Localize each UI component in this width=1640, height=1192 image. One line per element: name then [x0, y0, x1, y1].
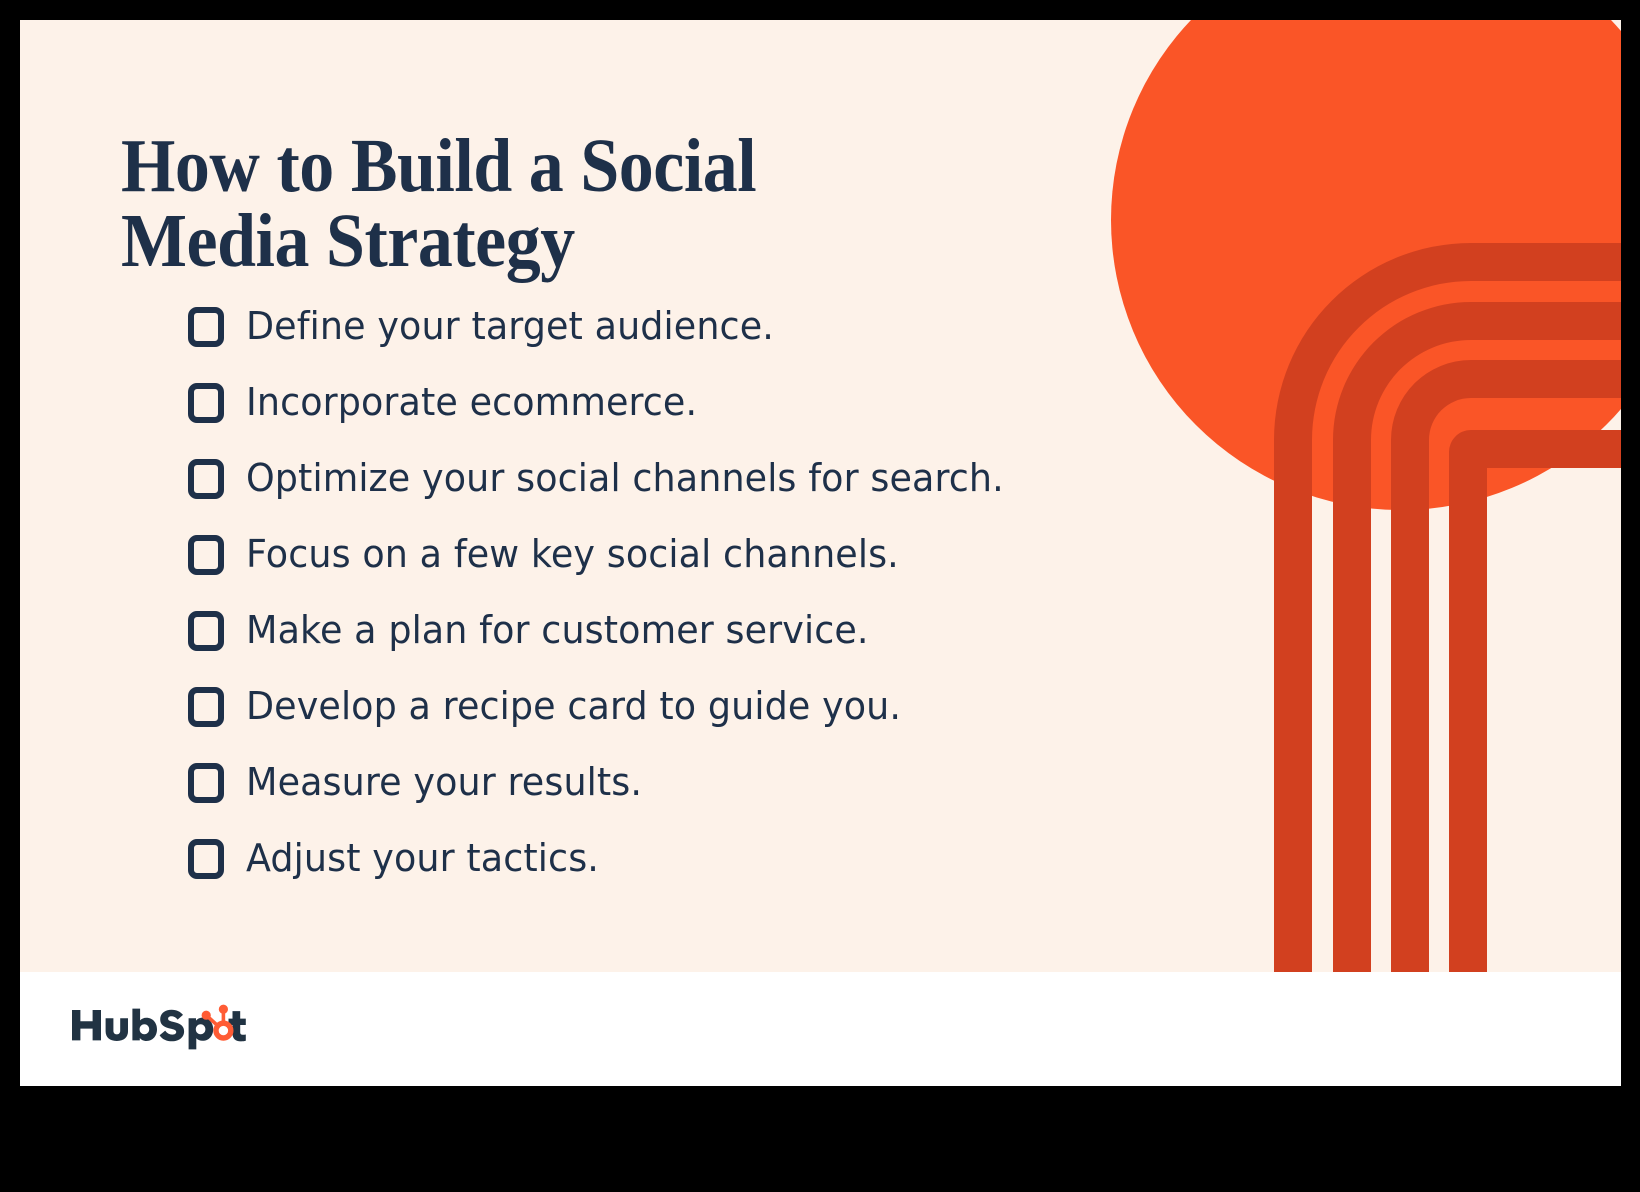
checklist-item-label: Optimize your social channels for search…	[246, 459, 1004, 497]
hubspot-logo	[70, 994, 254, 1050]
footer-bar	[20, 972, 1621, 1086]
checklist-item-label: Adjust your tactics.	[246, 839, 599, 877]
checklist-item-label: Develop a recipe card to guide you.	[246, 687, 901, 725]
checklist-item[interactable]: Focus on a few key social channels.	[188, 516, 1248, 592]
hubspot-logo-icon	[70, 994, 254, 1050]
arc-leg-4	[1449, 430, 1621, 972]
checklist-item-label: Focus on a few key social channels.	[246, 535, 899, 573]
checklist-item-label: Incorporate ecommerce.	[246, 383, 697, 421]
checklist-item[interactable]: Optimize your social channels for search…	[188, 440, 1248, 516]
checklist-item[interactable]: Make a plan for customer service.	[188, 592, 1248, 668]
arc-leg-2	[1333, 302, 1621, 972]
arc-leg-3	[1391, 360, 1621, 972]
checklist-item[interactable]: Incorporate ecommerce.	[188, 364, 1248, 440]
checkbox-icon[interactable]	[188, 383, 224, 423]
outer-frame: How to Build a Social Media Strategy Def…	[0, 0, 1640, 1192]
page-title-line-1: How to Build a Social	[121, 129, 894, 204]
checkbox-icon[interactable]	[188, 459, 224, 499]
graphic-card: How to Build a Social Media Strategy Def…	[20, 20, 1621, 1086]
page-title: How to Build a Social Media Strategy	[121, 129, 894, 279]
checklist-item-label: Measure your results.	[246, 763, 642, 801]
card-body: How to Build a Social Media Strategy Def…	[20, 20, 1621, 972]
checkbox-icon[interactable]	[188, 307, 224, 347]
checkbox-icon[interactable]	[188, 687, 224, 727]
checklist-item-label: Define your target audience.	[246, 307, 774, 345]
checkbox-icon[interactable]	[188, 763, 224, 803]
checklist: Define your target audience.Incorporate …	[188, 288, 1248, 896]
arc-leg-1	[1274, 243, 1621, 972]
page-title-line-2: Media Strategy	[121, 204, 894, 279]
checklist-item[interactable]: Define your target audience.	[188, 288, 1248, 364]
checkbox-icon[interactable]	[188, 611, 224, 651]
checkbox-icon[interactable]	[188, 839, 224, 879]
checklist-item[interactable]: Adjust your tactics.	[188, 820, 1248, 896]
checklist-item[interactable]: Measure your results.	[188, 744, 1248, 820]
checklist-item-label: Make a plan for customer service.	[246, 611, 869, 649]
checkbox-icon[interactable]	[188, 535, 224, 575]
checklist-item[interactable]: Develop a recipe card to guide you.	[188, 668, 1248, 744]
